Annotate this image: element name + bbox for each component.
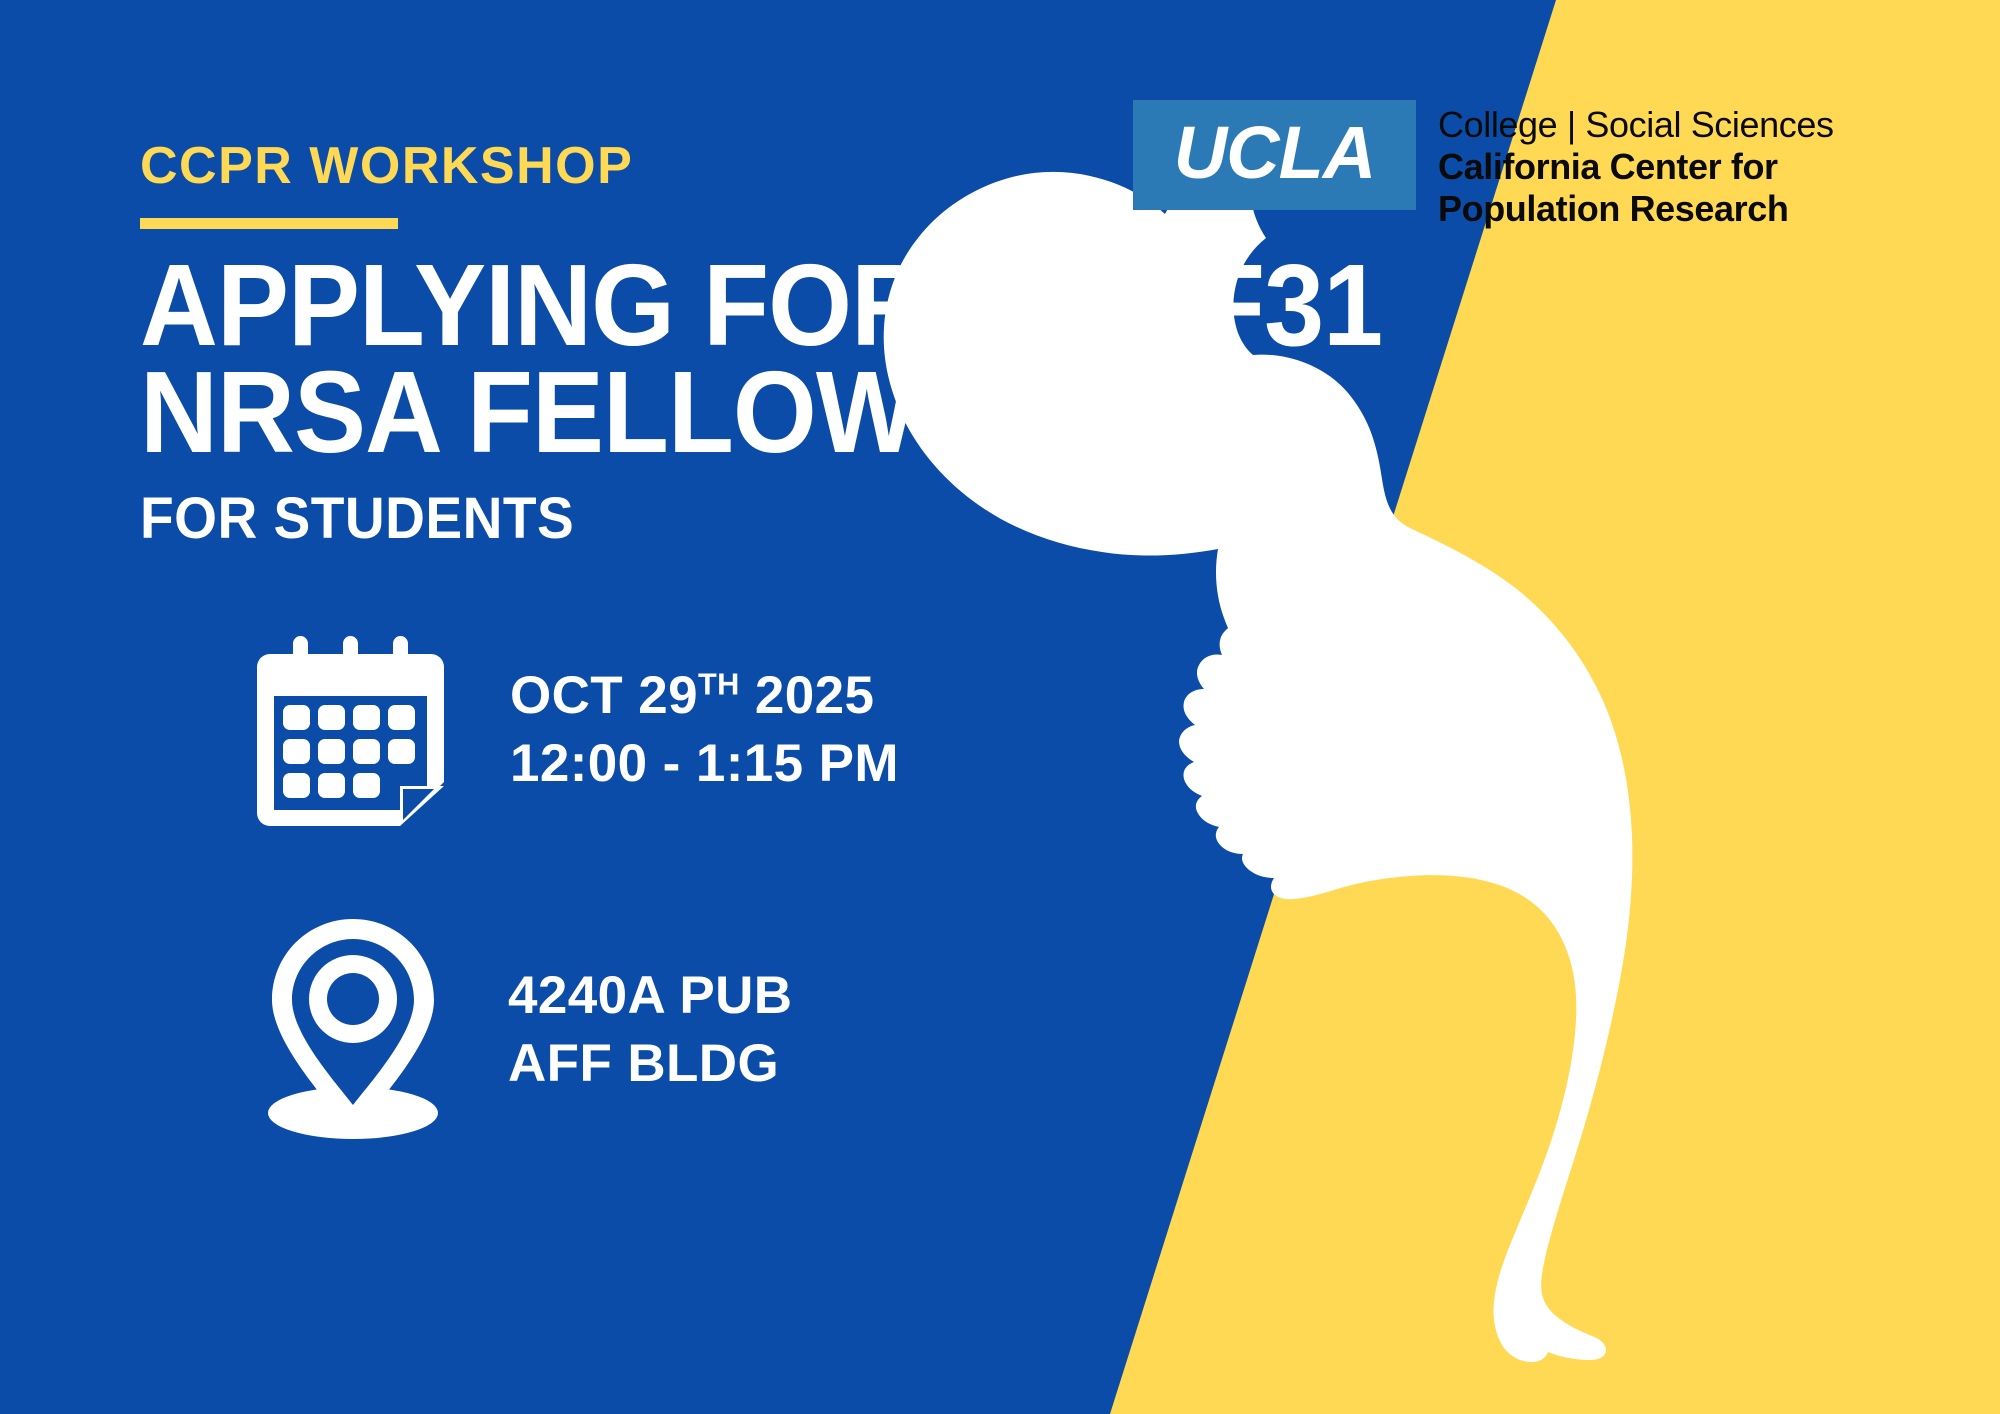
eyebrow-rule [140, 218, 398, 229]
location-row: 4240A PUB AFF BLDG [258, 915, 792, 1145]
event-date-prefix: OCT 29 [510, 666, 698, 725]
location-line-2: AFF BLDG [508, 1030, 792, 1098]
date-time-text: OCT 29TH 2025 12:00 - 1:15 PM [510, 662, 899, 798]
location-line-1: 4240A PUB [508, 962, 792, 1030]
event-date-year: 2025 [740, 666, 875, 725]
subtitle: FOR STUDENTS [140, 490, 574, 548]
ucla-logo-mark: UCLA [1133, 100, 1416, 210]
eyebrow-block: CCPR WORKSHOP [140, 140, 633, 229]
page-title: APPLYING FOR THE F31 NRSA FELLOWSHIP [140, 252, 1382, 465]
logo-center-line-1: California Center for [1438, 146, 1834, 188]
logo-center-line-2: Population Research [1438, 188, 1834, 230]
ucla-ccpr-logo: UCLA College | Social Sciences Californi… [1133, 100, 1834, 229]
eyebrow-label: CCPR WORKSHOP [140, 140, 633, 192]
ucla-wordmark: UCLA [1174, 116, 1376, 194]
event-date: OCT 29TH 2025 [510, 662, 899, 730]
map-pin-icon [258, 915, 448, 1145]
logo-text-block: College | Social Sciences California Cen… [1438, 100, 1834, 229]
flyer-canvas: UCLA College | Social Sciences Californi… [0, 0, 2000, 1414]
date-time-row: OCT 29TH 2025 12:00 - 1:15 PM [250, 630, 899, 830]
event-time: 12:00 - 1:15 PM [510, 730, 899, 798]
headline-line-1: APPLYING FOR THE F31 [140, 252, 1382, 359]
logo-college-line: College | Social Sciences [1438, 104, 1834, 146]
headline-line-2: NRSA FELLOWSHIP [140, 359, 1382, 466]
location-text: 4240A PUB AFF BLDG [508, 962, 792, 1098]
event-date-ordinal: TH [698, 667, 740, 702]
calendar-icon [250, 630, 450, 830]
